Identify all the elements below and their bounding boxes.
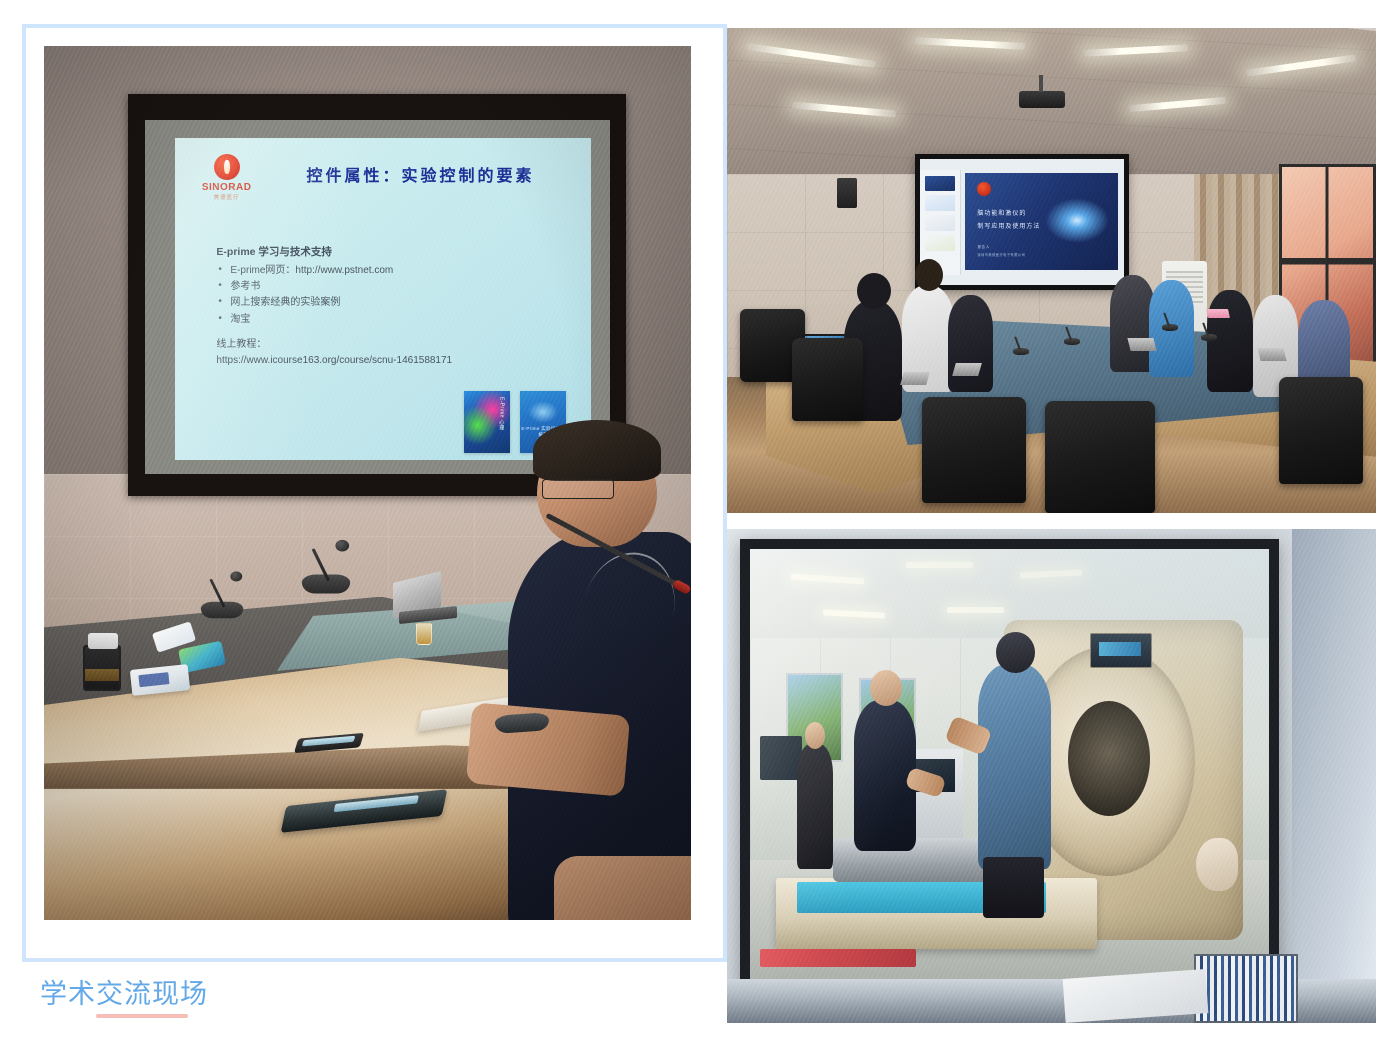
page-root: SINORAD 美德医疗 控件属性：实验控制的要素 E-prime 学习与技术支…: [0, 0, 1398, 1048]
attendee-person: [948, 295, 993, 392]
tea-cup: [416, 623, 432, 645]
ceiling-light: [947, 607, 1004, 613]
sinorad-logo-icon: SINORAD 美德医疗: [198, 154, 256, 201]
office-chair: [922, 397, 1026, 504]
red-strap: [760, 949, 916, 967]
slide-heading: E-prime 学习与技术支持: [216, 244, 566, 261]
laptop: [393, 579, 453, 621]
ceiling-light: [906, 562, 973, 568]
presenter-hair: [533, 420, 661, 481]
ceiling-projector: [1019, 91, 1065, 108]
stacked-books: [1194, 954, 1298, 1023]
presenter-leg: [554, 856, 691, 920]
presentation-slide: SINORAD 美德医疗 控件属性：实验控制的要素 E-prime 学习与技术支…: [175, 138, 591, 460]
technician: [978, 664, 1051, 868]
slide-footer-url: https://www.icourse163.org/course/scnu-1…: [216, 353, 566, 369]
gooseneck-microphone: [302, 574, 350, 593]
caption-underline: [96, 1014, 188, 1018]
table-microphone: [1201, 334, 1217, 341]
logo-subtext: 美德医疗: [198, 193, 256, 201]
slide-thumbnail: [925, 215, 955, 231]
projection-screen: 脑功能和激仪的 制写应用及使用方法 报告人 深圳市美德医疗电子有限公司: [915, 154, 1129, 290]
photo-lecture: SINORAD 美德医疗 控件属性：实验控制的要素 E-prime 学习与技术支…: [44, 46, 691, 920]
photo-frame-lecture: SINORAD 美德医疗 控件属性：实验控制的要素 E-prime 学习与技术支…: [22, 24, 727, 962]
wall-speaker: [837, 178, 857, 208]
slide-title-line1: 脑功能和激仪的: [977, 208, 1026, 217]
staff-member: [797, 744, 833, 868]
console-monitor: [760, 736, 801, 780]
mri-status-display: [1090, 633, 1152, 668]
technician-head: [870, 670, 902, 706]
observation-window: [740, 539, 1279, 1003]
staff-head: [805, 722, 825, 749]
spacer: [216, 328, 566, 337]
presenter-person: [490, 431, 691, 920]
page-caption: 学术交流现场: [40, 972, 208, 1011]
photo-mri: [727, 529, 1376, 1023]
office-chair: [1045, 401, 1155, 513]
pink-notepad: [1206, 309, 1230, 318]
projection-screen-surface: SINORAD 美德医疗 控件属性：实验控制的要素 E-prime 学习与技术支…: [145, 120, 610, 474]
patient-head-coil: [1196, 838, 1237, 891]
projection-screen-surface: 脑功能和激仪的 制写应用及使用方法 报告人 深圳市美德医疗电子有限公司: [920, 159, 1124, 285]
gooseneck-microphone: [201, 602, 243, 619]
technician-shorts: [983, 857, 1044, 918]
laptop: [900, 372, 930, 385]
slide-bullet: 网上搜索经典的实验案例: [216, 295, 566, 311]
slide-affiliation: 深圳市美德医疗电子有限公司: [977, 252, 1025, 257]
mri-bore-opening: [1068, 701, 1150, 816]
logo-mark-icon: [214, 154, 240, 180]
book-spine-text: E-Prime 心理: [498, 397, 505, 430]
slide-body: E-prime 学习与技术支持 E-prime网页：http://www.pst…: [216, 244, 566, 369]
cup-caddy: [83, 645, 121, 691]
slide-presenter: 报告人: [977, 245, 990, 250]
table-microphone: [1013, 348, 1029, 355]
slide-title: 控件属性：实验控制的要素: [266, 162, 574, 186]
observation-window-glass: [750, 549, 1269, 993]
laptop: [952, 363, 982, 376]
slide-bullet: E-prime网页：http://www.pstnet.com: [216, 263, 566, 279]
attendee-person: [1207, 290, 1252, 392]
presentation-slide: 脑功能和激仪的 制写应用及使用方法 报告人 深圳市美德医疗电子有限公司: [965, 173, 1118, 270]
sinorad-logo-icon: [977, 182, 991, 196]
technician-head-cap: [996, 632, 1035, 673]
slide-bullet: 参考书: [216, 279, 566, 295]
wall-column: [1292, 529, 1376, 1023]
tissue-box: [130, 664, 190, 696]
laptop: [1128, 338, 1157, 351]
papers-on-sill: [1063, 969, 1209, 1023]
logo-wordmark: SINORAD: [198, 182, 256, 193]
slide-thumbnail: [925, 195, 955, 211]
slide-thumbnail: [925, 235, 955, 251]
slide-footer-label: 线上教程：: [216, 337, 566, 353]
laptop: [1258, 348, 1287, 361]
slide-title-line2: 制写应用及使用方法: [977, 221, 1040, 230]
slide-thumbnail: [925, 176, 955, 192]
office-chair: [1279, 377, 1363, 484]
caddy-band: [85, 669, 119, 681]
office-chair: [792, 338, 863, 420]
technician: [854, 700, 916, 851]
eyeglasses-icon: [542, 479, 615, 499]
brain-graphic: [1045, 198, 1109, 243]
table-microphone: [1162, 324, 1178, 331]
slide-bullet: 淘宝: [216, 312, 566, 328]
photo-meeting: 脑功能和激仪的 制写应用及使用方法 报告人 深圳市美德医疗电子有限公司: [727, 28, 1376, 513]
